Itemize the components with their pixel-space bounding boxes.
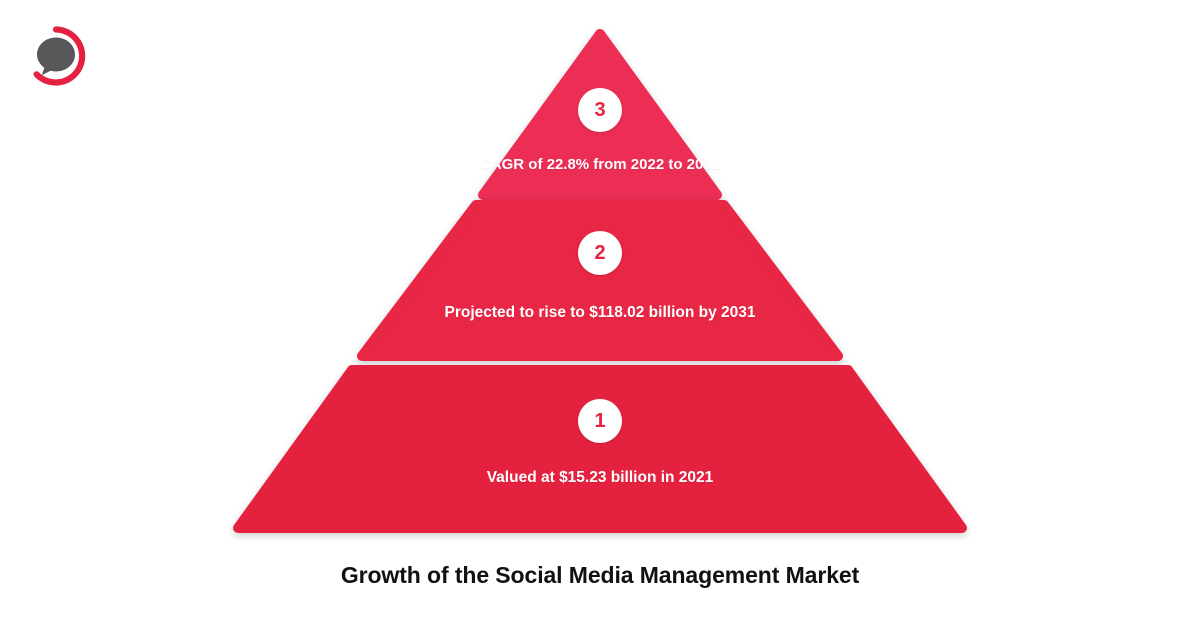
pyramid-chart: 3 CAGR of 22.8% from 2022 to 2031 2 Proj… [0, 0, 1200, 560]
pyramid-tier-top-shape[interactable] [483, 34, 717, 195]
pyramid-tier-middle-shape[interactable] [362, 205, 838, 356]
pyramid-infographic: 3 CAGR of 22.8% from 2022 to 2031 2 Proj… [0, 0, 1200, 630]
pyramid-tier-bottom-shape[interactable] [238, 370, 962, 528]
chart-title: Growth of the Social Media Management Ma… [0, 562, 1200, 589]
pyramid-shapes [0, 0, 1200, 560]
